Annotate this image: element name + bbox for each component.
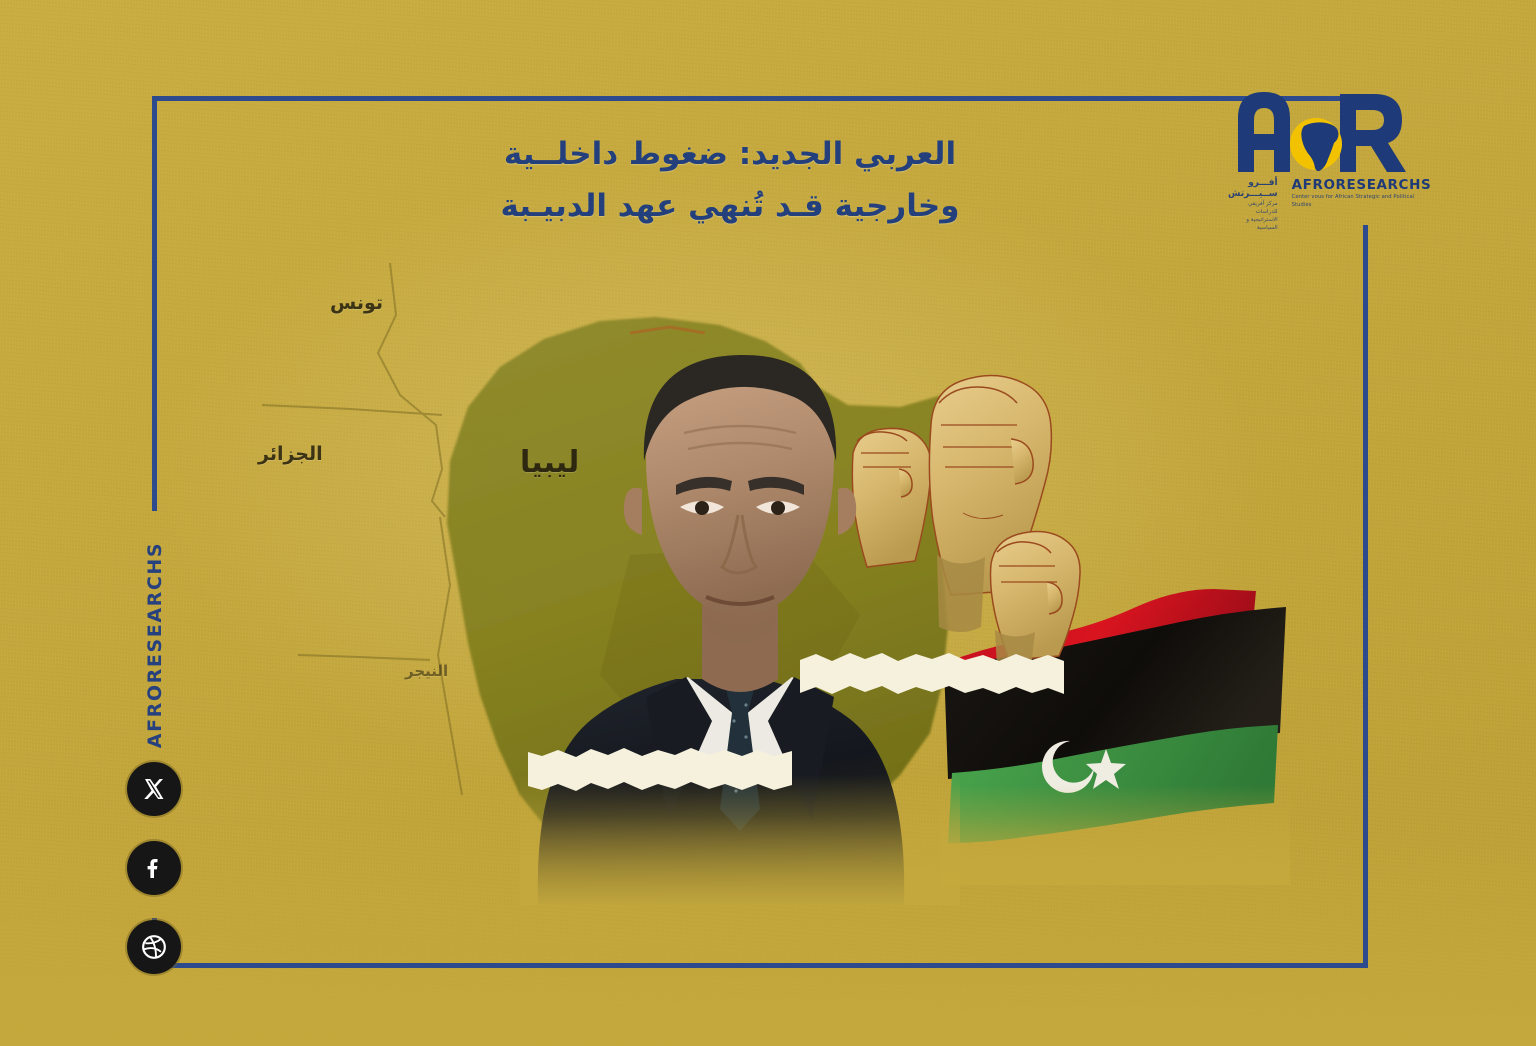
- logo-english-title: AFRORESEARCHS: [1292, 178, 1432, 193]
- frame-border-top: [152, 96, 1368, 101]
- facebook-icon: [142, 856, 166, 880]
- logo-english-name: AFRORESEARCHS Center vous for African St…: [1292, 178, 1432, 209]
- torn-paper-strip-upper: [800, 648, 1100, 704]
- logo-arabic-name: أفـــرو ســيـــرتش مركز أفريقي للدراسات …: [1228, 178, 1282, 232]
- frame-border-bottom: [180, 963, 1368, 968]
- dribbble-icon: [141, 934, 167, 960]
- headline-line-1: العربي الجديد: ضغوط داخلــية: [380, 128, 1080, 180]
- logo-wordmark: أفـــرو ســيـــرتش مركز أفريقي للدراسات …: [1228, 178, 1428, 218]
- map-label-algeria: الجزائر: [258, 443, 323, 465]
- social-links: [127, 762, 185, 999]
- headline: العربي الجديد: ضغوط داخلــية وخارجية قـد…: [380, 128, 1080, 232]
- social-link-dribbble[interactable]: [127, 920, 181, 974]
- map-label-tunisia: تونس: [330, 292, 383, 314]
- portrait-photo: [520, 285, 960, 905]
- frame-border-left: [152, 96, 157, 511]
- logo-arabic-title: أفـــرو ســيـــرتش: [1228, 178, 1278, 199]
- logo-mark: [1228, 82, 1428, 174]
- social-link-facebook[interactable]: [127, 841, 181, 895]
- headline-line-2: وخارجية قـد تُنهي عهد الدبيـبة: [380, 180, 1080, 232]
- torn-paper-strip-lower: [528, 742, 828, 798]
- frame-border-right: [1363, 225, 1368, 968]
- vertical-brand-text: AFRORESEARCHS: [132, 530, 178, 760]
- map-label-niger: النيجر: [405, 662, 448, 680]
- vertical-brand-label: AFRORESEARCHS: [144, 542, 166, 748]
- logo-arabic-tagline: مركز أفريقي للدراسات الاستراتيجية و السي…: [1228, 200, 1278, 232]
- poster-canvas: تونس الجزائر النيجر ليبيا: [0, 0, 1536, 1046]
- logo-english-tagline: Center vous for African Strategic and Po…: [1292, 193, 1432, 209]
- social-link-x[interactable]: [127, 762, 181, 816]
- brand-logo[interactable]: أفـــرو ســيـــرتش مركز أفريقي للدراسات …: [1228, 82, 1428, 227]
- x-twitter-icon: [142, 777, 166, 801]
